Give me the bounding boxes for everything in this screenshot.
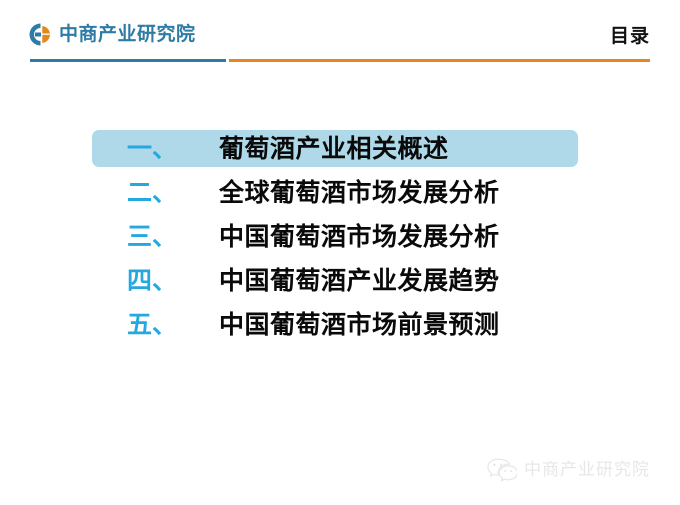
toc-item-label: 中国葡萄酒市场前景预测 — [219, 312, 500, 337]
toc-item-label: 中国葡萄酒产业发展趋势 — [219, 268, 500, 293]
toc-list: 一、 葡萄酒产业相关概述 二、 全球葡萄酒市场发展分析 三、 中国葡萄酒市场发展… — [0, 126, 680, 346]
toc-item-4[interactable]: 四、 中国葡萄酒产业发展趋势 — [0, 258, 680, 302]
toc-item-number: 一、 — [127, 136, 219, 161]
toc-item-label: 中国葡萄酒市场发展分析 — [219, 224, 500, 249]
toc-item-number: 四、 — [127, 268, 219, 293]
toc-item-3[interactable]: 三、 中国葡萄酒市场发展分析 — [0, 214, 680, 258]
toc-item-label: 葡萄酒产业相关概述 — [219, 136, 449, 161]
toc-item-number: 二、 — [127, 180, 219, 205]
circle-c-logo-icon — [28, 22, 53, 47]
toc-item-1[interactable]: 一、 葡萄酒产业相关概述 — [0, 126, 680, 170]
brand-lockup: 中商产业研究院 — [28, 22, 196, 47]
footer-watermark: 中商产业研究院 — [487, 457, 650, 483]
toc-item-label: 全球葡萄酒市场发展分析 — [219, 180, 500, 205]
toc-item-2[interactable]: 二、 全球葡萄酒市场发展分析 — [0, 170, 680, 214]
wechat-icon — [487, 457, 517, 483]
toc-item-number: 五、 — [127, 312, 219, 337]
toc-item-5[interactable]: 五、 中国葡萄酒市场前景预测 — [0, 302, 680, 346]
brand-name: 中商产业研究院 — [59, 25, 196, 44]
header-rule-blue — [30, 59, 226, 62]
header-rule-orange — [229, 59, 650, 62]
slide-header: 中商产业研究院 目录 — [0, 0, 680, 70]
slide-canvas: 中商产业研究院 目录 一、 葡萄酒产业相关概述 二、 全球葡萄酒市场发展分析 三… — [0, 0, 680, 505]
page-title: 目录 — [610, 27, 650, 46]
footer-brand-name: 中商产业研究院 — [524, 462, 650, 479]
toc-item-number: 三、 — [127, 224, 219, 249]
